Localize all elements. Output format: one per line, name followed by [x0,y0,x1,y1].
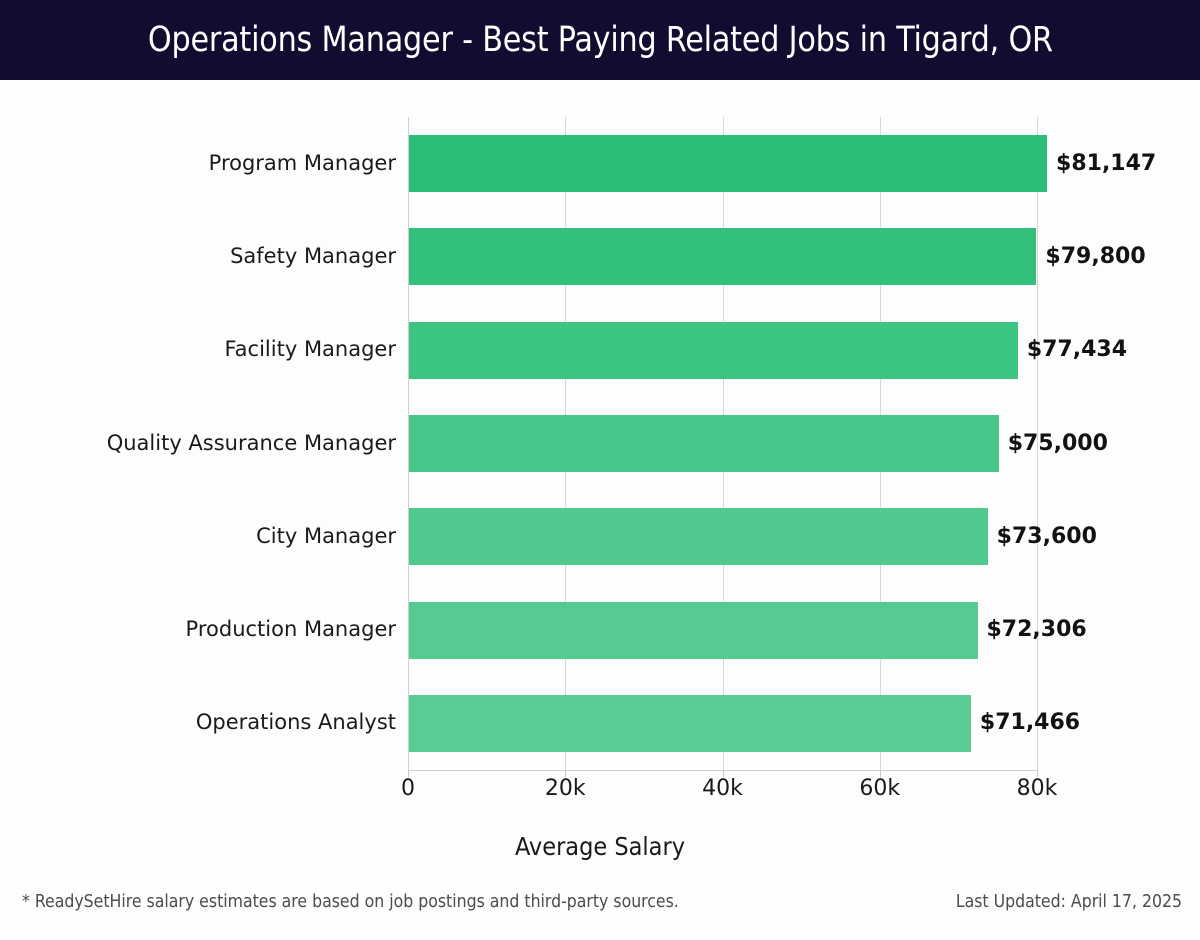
category-label: Production Manager [186,619,396,640]
chart-header-bar: Operations Manager - Best Paying Related… [0,0,1200,80]
bar[interactable] [409,322,1018,379]
chart-page: Operations Manager - Best Paying Related… [0,0,1200,940]
bar[interactable] [409,415,999,472]
bar[interactable] [409,602,978,659]
x-tick-label: 80k [1017,778,1058,800]
page-title: Operations Manager - Best Paying Related… [147,20,1052,60]
x-tick-label: 20k [545,778,586,800]
x-axis-title: Average Salary [0,832,1200,861]
x-tick-label: 0 [401,778,415,800]
bar[interactable] [409,228,1036,285]
x-tick-label: 60k [859,778,900,800]
x-tick-label: 40k [702,778,743,800]
category-label: Safety Manager [230,246,396,267]
bar[interactable] [409,508,988,565]
value-label: $72,306 [987,619,1087,641]
value-label: $77,434 [1027,339,1127,361]
value-label: $71,466 [980,712,1080,734]
value-label: $79,800 [1045,246,1145,268]
category-label: Program Manager [209,153,396,174]
bar[interactable] [409,135,1047,192]
chart-plot-area: 020k40k60k80k [408,117,1037,770]
chart-footer: * ReadySetHire salary estimates are base… [0,892,1200,926]
category-label: Quality Assurance Manager [107,433,396,454]
value-label: $75,000 [1008,433,1108,455]
category-label: Facility Manager [225,339,396,360]
chart-plot-wrapper: 020k40k60k80k Program ManagerSafety Mana… [0,80,1200,860]
footer-last-updated: Last Updated: April 17, 2025 [956,892,1182,912]
footer-disclaimer: * ReadySetHire salary estimates are base… [22,892,679,912]
category-label: City Manager [256,526,396,547]
bar[interactable] [409,695,971,752]
category-label: Operations Analyst [196,712,396,733]
value-label: $73,600 [997,526,1097,548]
value-label: $81,147 [1056,153,1156,175]
